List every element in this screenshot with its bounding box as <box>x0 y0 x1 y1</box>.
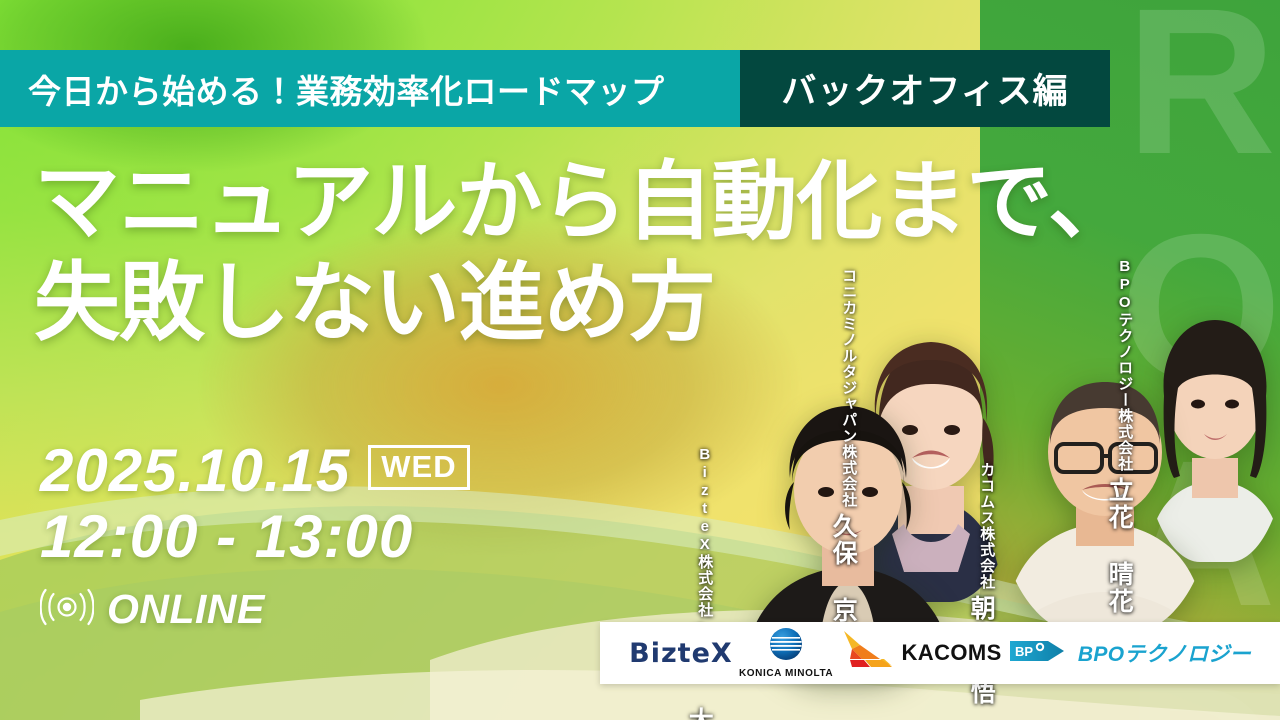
event-format-row: ONLINE <box>40 586 470 633</box>
main-title-line-1: マニュアルから自動化まで、 <box>34 152 1133 253</box>
header-eyebrow-badge: バックオフィス編 <box>740 50 1110 127</box>
broadcast-signal-icon <box>40 587 94 632</box>
event-format-label: ONLINE <box>107 586 265 633</box>
logo-kacoms: KACOMS <box>840 629 1002 678</box>
header-eyebrow-main: 今日から始める！業務効率化ロードマップ <box>0 50 740 127</box>
speaker-shimato-company: BizteX株式会社 <box>686 446 712 618</box>
schedule-date-row: 2025.10.15 WED <box>40 440 470 501</box>
sponsor-logo-bar: BizteX <box>600 622 1280 684</box>
speaker-asayama-company: カコムス株式会社 <box>968 462 994 590</box>
logo-kacoms-text: KACOMS <box>902 640 1002 666</box>
logo-konica-minolta-text: KONICA MINOLTA <box>739 668 833 679</box>
logo-bpo-technology: BP BPOテクノロジー <box>1008 636 1251 671</box>
header-eyebrow-main-text: 今日から始める！業務効率化ロードマップ <box>0 65 665 113</box>
header-eyebrow-badge-text: バックオフィス編 <box>781 63 1068 114</box>
speaker-tachibana-name: 立花 晴花 <box>1106 477 1132 615</box>
konica-minolta-sphere-icon <box>766 627 806 666</box>
bpo-arrow-icon: BP <box>1008 636 1070 671</box>
main-title-line-2: 失敗しない進め方 <box>34 253 1133 354</box>
schedule-block: 2025.10.15 WED 12:00 - 13:00 ONLINE <box>40 440 470 633</box>
kacoms-mark-icon <box>840 629 894 678</box>
logo-konica-minolta: KONICA MINOLTA <box>739 627 833 679</box>
event-date: 2025.10.15 <box>40 440 350 501</box>
header-strip: 今日から始める！業務効率化ロードマップ バックオフィス編 <box>0 50 1110 127</box>
webinar-banner: ROAD 今日から始める！業務効率化ロードマップ バックオフィス編 マニュアルか… <box>0 0 1280 720</box>
logo-biztex-text: BizteX <box>629 638 733 669</box>
logo-bpo-technology-text: BPOテクノロジー <box>1078 638 1251 668</box>
event-time: 12:00 - 13:00 <box>40 505 470 568</box>
day-of-week-badge: WED <box>368 445 469 490</box>
logo-biztex: BizteX <box>629 638 733 669</box>
svg-text:BP: BP <box>1015 644 1033 659</box>
main-title: マニュアルから自動化まで、 失敗しない進め方 <box>34 152 1133 355</box>
